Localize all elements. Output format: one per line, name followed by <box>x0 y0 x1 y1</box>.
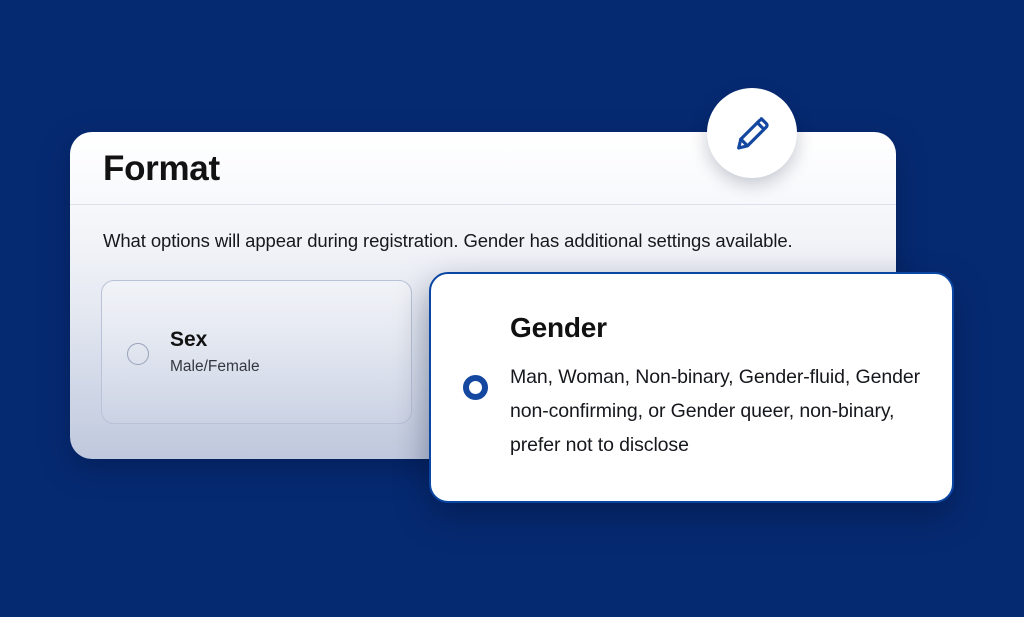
option-sex-subtitle: Male/Female <box>170 359 260 375</box>
edit-button[interactable] <box>707 88 797 178</box>
screen-root: Format What options will appear during r… <box>0 0 1024 617</box>
option-card-gender[interactable]: Gender Man, Woman, Non-binary, Gender-fl… <box>429 272 954 503</box>
format-description: What options will appear during registra… <box>103 230 793 252</box>
pencil-icon <box>732 113 772 153</box>
radio-button-sex[interactable] <box>127 343 149 365</box>
header-divider <box>70 204 896 205</box>
option-gender-subtitle: Man, Woman, Non-binary, Gender-fluid, Ge… <box>510 360 920 462</box>
page-title: Format <box>103 151 220 186</box>
option-card-sex[interactable]: Sex Male/Female <box>101 280 412 424</box>
option-sex-text: Sex Male/Female <box>170 329 260 375</box>
radio-button-gender[interactable] <box>463 375 488 400</box>
option-sex-title: Sex <box>170 329 260 350</box>
option-gender-text: Gender Man, Woman, Non-binary, Gender-fl… <box>510 314 920 462</box>
option-gender-title: Gender <box>510 314 920 342</box>
